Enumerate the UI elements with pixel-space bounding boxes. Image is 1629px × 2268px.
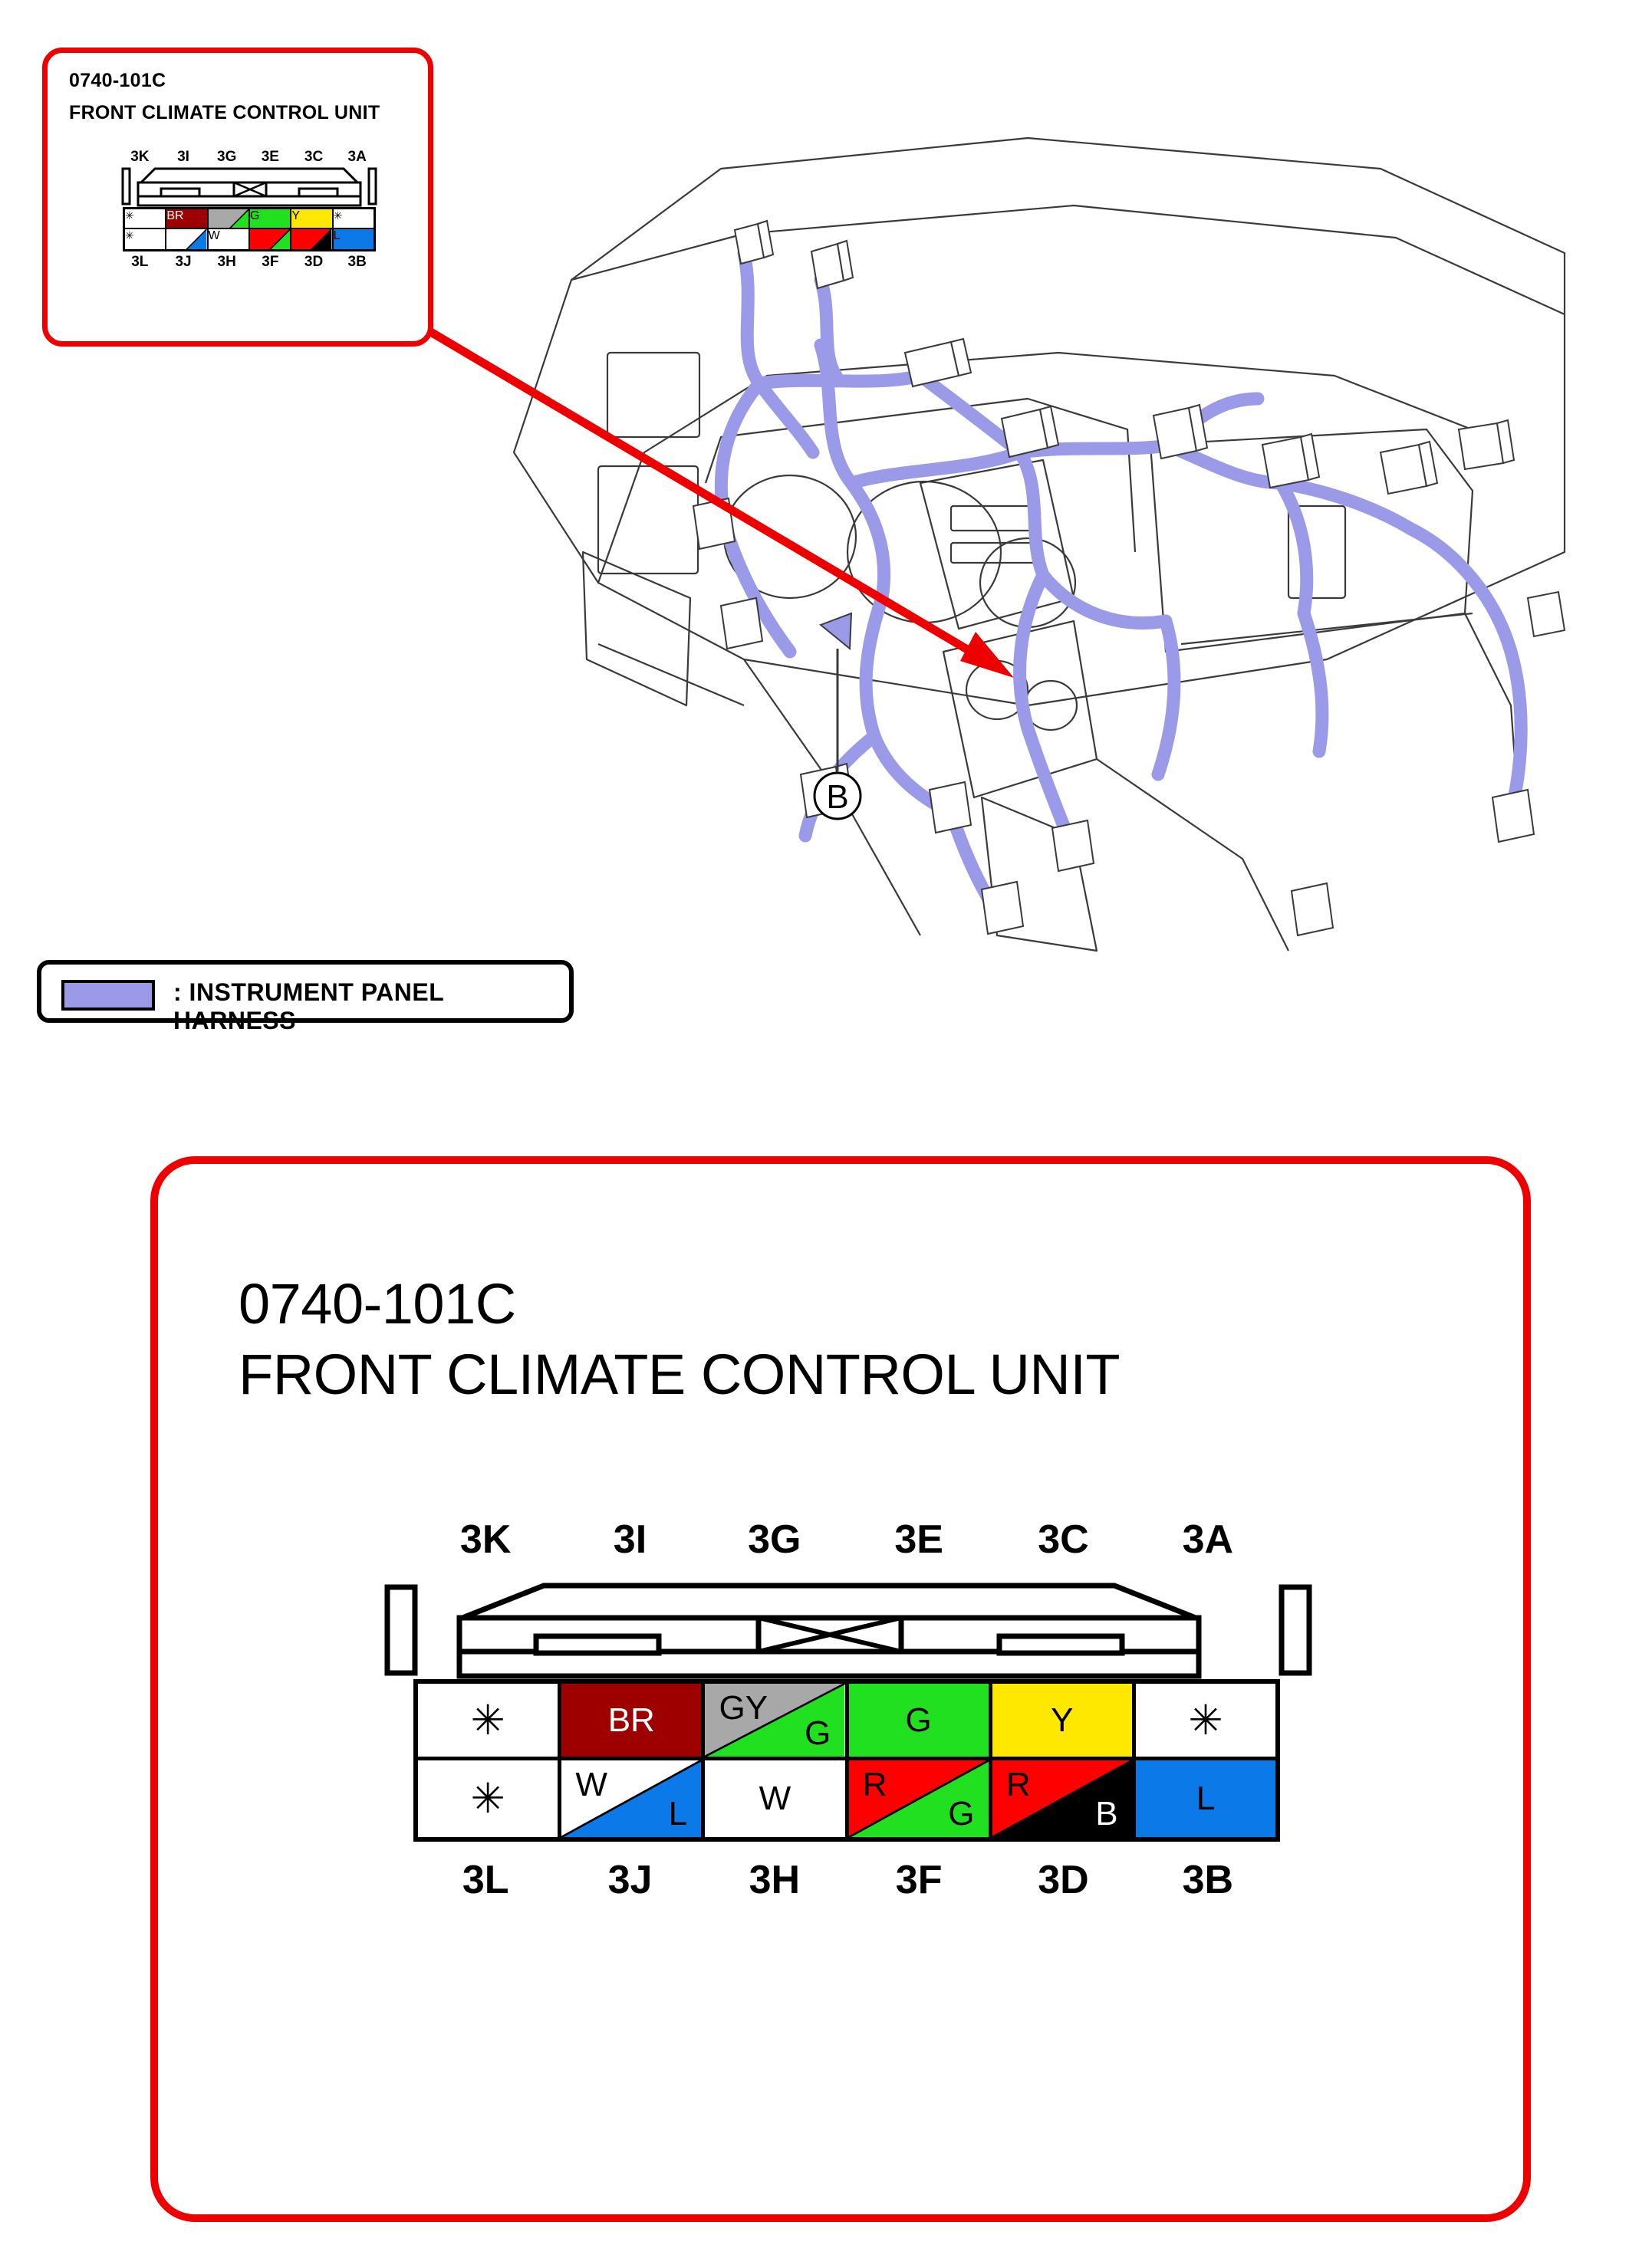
connector-housing [377,1579,1320,1679]
pin-cell-3e: G [849,1684,992,1760]
pin-split-fill [166,229,206,249]
pin-cell-3h: W [705,1760,848,1837]
mini-pin-label-3c: 3C [292,149,336,166]
pin-grid: ✳BRGYGGY✳ ✳WLWRGRBL [413,1679,1280,1842]
pin-cell-3b: L [1136,1760,1275,1837]
pin-wire-code: Y [291,209,300,222]
pin-wire-code: BR [561,1704,701,1737]
callout-part-name: FRONT CLIMATE CONTROL UNIT [69,102,380,124]
pin-wire-code: L [1136,1782,1275,1816]
mini-connector-housing [107,166,391,207]
pin-cell-3h: W [209,229,250,249]
pin-label-3g: 3G [703,1517,847,1563]
mini-pin-label-3e: 3E [248,149,292,166]
harness-color-swatch [61,980,155,1011]
pin-cell-3g: GYG [209,209,250,229]
pin-cell-3c: Y [291,209,333,229]
pin-cell-3k: ✳ [125,209,166,229]
bottom-pin-label-row: 3L3J3H3F3D3B [413,1857,1280,1903]
harness-marker-group: B [814,613,861,819]
pin-wire-code-b: L [669,1797,687,1831]
pin-cell-3l: ✳ [418,1760,561,1837]
pin-label-3i: 3I [558,1517,702,1563]
pin-split-fill [250,229,290,249]
asterisk-icon: ✳ [334,209,343,222]
pin-label-3k: 3K [413,1517,558,1563]
pin-wire-code-b: G [805,1717,831,1750]
pin-cell-3d: RB [992,1760,1136,1837]
mini-pin-label-3a: 3A [335,149,379,166]
pin-wire-code-b: G [948,1797,974,1831]
pin-cell-3a: ✳ [334,209,374,229]
pin-label-3j: 3J [558,1857,702,1903]
mini-pin-label-3d: 3D [292,254,336,271]
pin-label-3a: 3A [1136,1517,1280,1563]
pin-row-bottom: ✳WLWRGRBL [418,1760,1275,1837]
mini-pin-row-bottom: ✳WLWRGRBL [125,229,374,249]
pin-row-top: ✳BRGYGGY✳ [418,1684,1275,1760]
pin-cell-3d: RB [291,229,333,249]
detail-part-code: 0740-101C [239,1271,516,1336]
mini-pin-label-3g: 3G [205,149,248,166]
mini-pin-label-3l: 3L [118,254,162,271]
pin-wire-code: W [705,1782,844,1816]
pin-wire-code-b: B [1095,1797,1117,1831]
asterisk-icon: ✳ [418,1778,558,1819]
instrument-panel-illustration: B [491,123,1595,966]
pin-cell-3f: RG [849,1760,992,1837]
mini-pin-grid: ✳BRGYGGY✳ ✳WLWRGRBL [123,207,376,251]
mini-top-pin-labels: 3K3I3G3E3C3A [118,149,379,166]
mini-pin-label-3i: 3I [162,149,206,166]
pin-cell-3g: GYG [705,1684,848,1760]
detail-part-name: FRONT CLIMATE CONTROL UNIT [239,1342,1120,1407]
connector-detail-panel: 0740-101C FRONT CLIMATE CONTROL UNIT 3K3… [150,1156,1531,2222]
pin-label-3b: 3B [1136,1857,1280,1903]
pin-cell-3a: ✳ [1136,1684,1275,1760]
harness-legend-label: : INSTRUMENT PANEL HARNESS [173,978,569,1035]
pin-cell-3i: BR [166,209,208,229]
pin-wire-code: W [209,229,220,242]
asterisk-icon: ✳ [1136,1700,1275,1741]
pin-wire-code: Y [992,1704,1132,1737]
harness-legend-box: : INSTRUMENT PANEL HARNESS [37,960,574,1023]
connector-callout-box: 0740-101C FRONT CLIMATE CONTROL UNIT 3K3… [42,48,433,347]
connector-housing-shape [377,1579,1320,1679]
pin-wire-code-a: R [1006,1768,1031,1802]
pin-wire-code: G [250,209,259,222]
pin-cell-3j: WL [561,1760,705,1837]
pin-wire-code: L [334,229,341,242]
pin-label-3f: 3F [847,1857,991,1903]
mini-bottom-pin-labels: 3L3J3H3F3D3B [118,254,379,271]
pin-wire-code-a: R [863,1768,887,1802]
pin-label-3c: 3C [991,1517,1135,1563]
pin-label-3e: 3E [847,1517,991,1563]
pin-cell-3l: ✳ [125,229,166,249]
pin-label-3d: 3D [991,1857,1135,1903]
pin-wire-code-a: W [575,1768,607,1802]
pin-cell-3k: ✳ [418,1684,561,1760]
pin-cell-3e: G [250,209,291,229]
mini-pin-row-top: ✳BRGYGGY✳ [125,209,374,229]
asterisk-icon: ✳ [418,1700,558,1741]
pin-split-fill [291,229,331,249]
pin-wire-code: BR [166,209,183,222]
mini-pin-label-3f: 3F [248,254,292,271]
pin-wire-code-a: GY [719,1691,768,1725]
mini-pin-label-3k: 3K [118,149,162,166]
top-pin-label-row: 3K3I3G3E3C3A [413,1517,1280,1563]
connector-pinout-diagram: 3K3I3G3E3C3A ✳BRG [377,1517,1320,1903]
mini-pin-label-3b: 3B [335,254,379,271]
mini-pin-label-3j: 3J [162,254,206,271]
pin-wire-code: G [849,1704,989,1737]
pin-label-3h: 3H [703,1857,847,1903]
pin-cell-3i: BR [561,1684,705,1760]
asterisk-icon: ✳ [125,209,134,222]
pin-cell-3j: WL [166,229,208,249]
mini-pin-label-3h: 3H [205,254,248,271]
asterisk-icon: ✳ [125,229,134,242]
harness-marker-label: B [826,778,848,816]
pin-cell-3b: L [334,229,374,249]
pin-split-fill [209,209,248,229]
pin-cell-3f: RG [250,229,291,249]
pin-label-3l: 3L [413,1857,558,1903]
callout-part-code: 0740-101C [69,70,166,92]
pin-cell-3c: Y [992,1684,1136,1760]
mini-connector-diagram: 3K3I3G3E3C3A ✳BRGYG [92,149,406,271]
mini-housing-shape [107,166,391,207]
